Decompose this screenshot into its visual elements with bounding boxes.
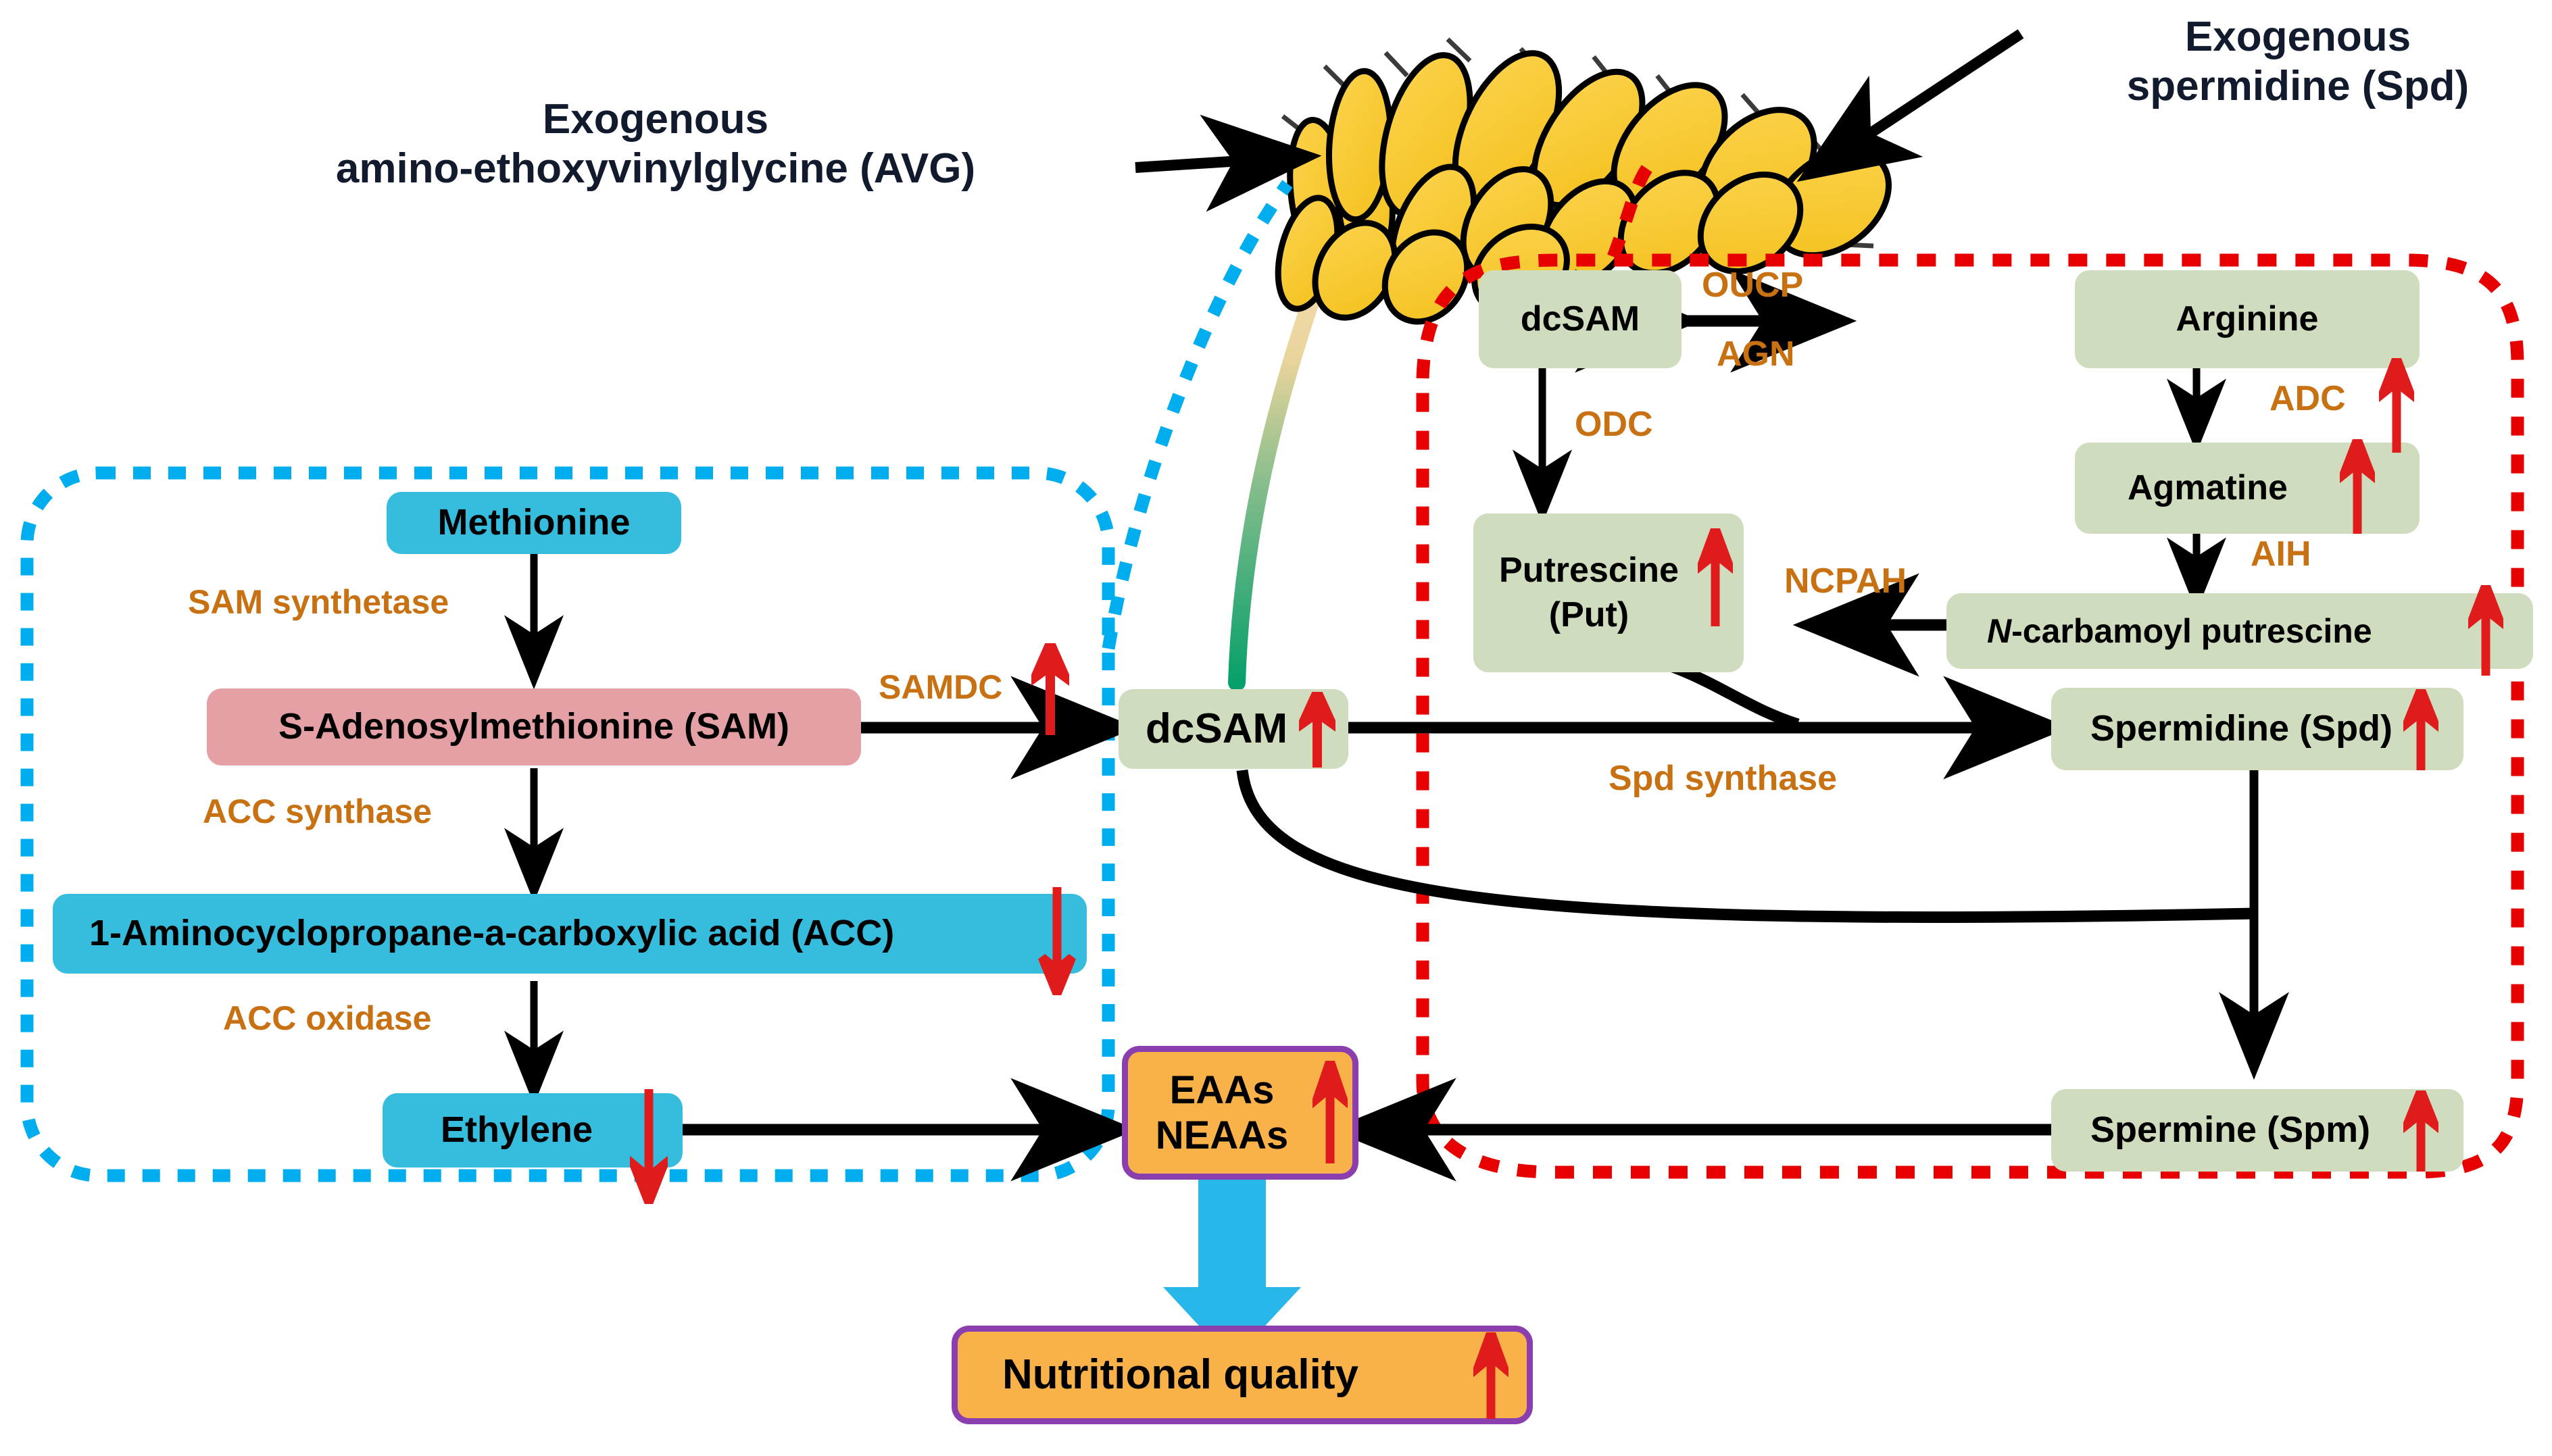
enzyme-oucp: OUCP (1702, 265, 1803, 305)
node-agmatine-label: Agmatine (2128, 470, 2288, 506)
ethylene-pathway-panel (27, 473, 1108, 1176)
node-dcsam-label: dcSAM (1521, 301, 1640, 337)
down-arrow-ethylene (630, 1089, 668, 1204)
avg-pointer-line (1135, 157, 1304, 168)
node-spermine-label: Spermine (Spm) (2090, 1111, 2370, 1149)
node-methionine[interactable]: Methionine (387, 492, 681, 554)
node-sam[interactable]: S-Adenosylmethionine (SAM) (207, 688, 861, 765)
pathway-diagram: Exogenous amino-ethoxyvinylglycine (AVG)… (0, 0, 2552, 1456)
enzyme-sam-synthetase: SAM synthetase (188, 582, 449, 622)
enzyme-acc-oxidase: ACC oxidase (223, 999, 431, 1038)
node-putrescine-label-line2: (Put) (1549, 597, 1629, 633)
spd-pointer-line (1811, 34, 2021, 172)
enzyme-adc: ADC (2269, 378, 2346, 419)
node-nutritional-quality[interactable]: Nutritional quality (952, 1326, 1533, 1424)
enzyme-acc-synthase: ACC synthase (203, 792, 432, 831)
up-arrow-samdc (1031, 643, 1069, 735)
up-arrow-putrescine (1698, 528, 1733, 626)
node-spermidine[interactable]: Spermidine (Spd) (2051, 688, 2463, 770)
title-exogenous-spd: Exogenous spermidine (Spd) (2061, 12, 2534, 111)
node-eaas-label: EAAs (1170, 1070, 1275, 1110)
node-ncp-label-rest: -carbamoyl putrescine (2011, 614, 2372, 649)
node-arginine-label: Arginine (2176, 301, 2319, 337)
title-exogenous-avg: Exogenous amino-ethoxyvinylglycine (AVG) (182, 95, 1129, 193)
node-dcsam-center-label: dcSAM (1146, 707, 1287, 750)
up-arrow-nutritional-quality (1473, 1332, 1508, 1419)
down-arrow-acc (1038, 887, 1076, 995)
up-arrow-spermine (2403, 1090, 2438, 1172)
node-spermine[interactable]: Spermine (Spm) (2051, 1089, 2463, 1172)
node-dcsam[interactable]: dcSAM (1479, 270, 1682, 368)
enzyme-samdc: SAMDC (879, 668, 1002, 707)
up-arrow-ncp (2468, 585, 2503, 676)
node-ncp-label-italic: N (1987, 614, 2011, 649)
enzyme-aih: AIH (2251, 534, 2311, 574)
node-spermidine-label: Spermidine (Spd) (2090, 710, 2392, 747)
node-n-carbamoyl-putrescine[interactable]: N-carbamoyl putrescine (1946, 593, 2533, 669)
node-sam-label: S-Adenosylmethionine (SAM) (278, 708, 789, 745)
node-nutritional-quality-label: Nutritional quality (1002, 1353, 1358, 1396)
enzyme-agn: AGN (1717, 334, 1795, 374)
up-arrow-dcsam-center (1299, 692, 1335, 768)
node-neaas-label: NEAAs (1156, 1115, 1289, 1155)
node-putrescine-label-line1: Putrescine (1499, 553, 1679, 588)
node-acc[interactable]: 1-Aminocyclopropane-a-carboxylic acid (A… (53, 894, 1087, 974)
node-acc-label: 1-Aminocyclopropane-a-carboxylic acid (A… (89, 915, 894, 952)
enzyme-spd-synthase: Spd synthase (1609, 758, 1837, 799)
node-arginine[interactable]: Arginine (2075, 270, 2420, 368)
ethylene-panel-leader (1108, 184, 1287, 649)
up-arrow-adc (2379, 358, 2414, 453)
node-methionine-label: Methionine (438, 504, 631, 541)
up-arrow-agmatine (2340, 439, 2375, 534)
node-ethylene-label: Ethylene (441, 1111, 593, 1149)
enzyme-odc: ODC (1575, 404, 1653, 445)
up-arrow-eaas-neaas (1312, 1061, 1348, 1163)
enzyme-ncpah: NCPAH (1784, 561, 1907, 601)
wheat-stem-icon (1237, 270, 1321, 682)
up-arrow-spermidine (2403, 689, 2438, 770)
